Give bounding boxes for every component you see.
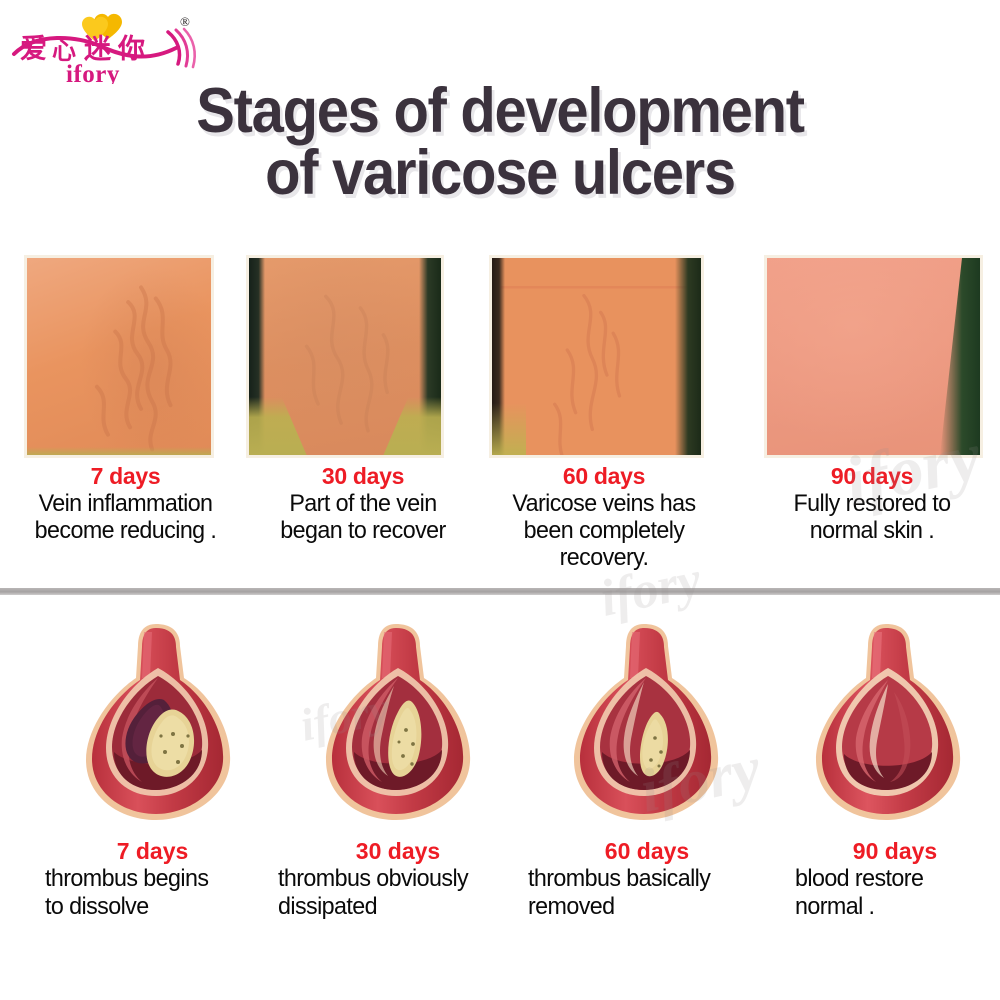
skin-photo-card-1: [246, 255, 444, 458]
photo-caption-desc-3: Fully restored to normal skin .: [756, 490, 989, 544]
vein-caption-1: 30 days thrombus obviously dissipated: [278, 838, 518, 921]
photo-edge-right-2: [675, 258, 701, 455]
registered-trademark-icon: ®: [180, 14, 190, 30]
vein-caption-days-3: 90 days: [795, 838, 995, 865]
vein-pattern-icon: [27, 258, 211, 455]
skin-photo-card-0: [24, 255, 214, 458]
vein-caption-2: 60 days thrombus basically removed: [528, 838, 766, 921]
photo-caption-desc-2: Varicose veins has been completely recov…: [483, 490, 726, 571]
title-line-2: of varicose ulcers: [40, 142, 960, 204]
vein-illustration-0: [60, 606, 260, 836]
skin-photo-image-2: [492, 258, 701, 455]
brand-logo: 爱 心 迷 你 ifory ®: [8, 6, 204, 84]
vein-caption-days-1: 30 days: [278, 838, 518, 865]
photo-caption-1: 30 days Part of the vein began to recove…: [252, 463, 474, 544]
vein-caption-desc-2: thrombus basically removed: [528, 865, 759, 921]
vein-caption-days-0: 7 days: [45, 838, 260, 865]
infographic-page: 爱 心 迷 你 ifory ® Stages of development of…: [0, 0, 1000, 1000]
svg-text:你: 你: [117, 34, 145, 65]
photo-caption-days-0: 7 days: [8, 463, 243, 490]
skin-photo-image-3: [767, 258, 980, 455]
vein-illustration-2: [548, 606, 748, 836]
photo-caption-days-3: 90 days: [752, 463, 992, 490]
vein-illustration-row: [0, 606, 1000, 836]
vein-illustration-3: [790, 606, 990, 836]
vein-caption-3: 90 days blood restore normal .: [795, 838, 995, 921]
skin-photo-row: [0, 255, 1000, 460]
section-divider: [0, 588, 1000, 595]
photo-edge-band-2: [492, 403, 526, 455]
page-title: Stages of development of varicose ulcers: [0, 80, 1000, 204]
vein-illustration-1: [300, 606, 500, 836]
vein-caption-desc-0: thrombus begins to dissolve: [45, 865, 254, 921]
photo-caption-2: 60 days Varicose veins has been complete…: [479, 463, 729, 571]
photo-caption-days-1: 30 days: [252, 463, 474, 490]
photo-caption-days-2: 60 days: [479, 463, 729, 490]
svg-text:爱: 爱: [20, 34, 47, 65]
vein-caption-desc-3: blood restore normal .: [795, 865, 989, 921]
skin-photo-card-3: [764, 255, 983, 458]
skin-photo-card-2: [489, 255, 704, 458]
photo-caption-desc-0: Vein inflammation become reducing .: [12, 490, 240, 544]
vein-caption-0: 7 days thrombus begins to dissolve: [45, 838, 260, 921]
skin-photo-image-1: [249, 258, 441, 455]
photo-caption-3: 90 days Fully restored to normal skin .: [752, 463, 992, 544]
vein-caption-desc-1: thrombus obviously dissipated: [278, 865, 511, 921]
photo-caption-0: 7 days Vein inflammation become reducing…: [8, 463, 243, 544]
vein-caption-days-2: 60 days: [528, 838, 766, 865]
skin-photo-image-0: [27, 258, 211, 455]
photo-edge-band-0: [27, 447, 211, 455]
photo-caption-desc-1: Part of the vein began to recover: [255, 490, 470, 544]
title-line-1: Stages of development: [40, 80, 960, 142]
